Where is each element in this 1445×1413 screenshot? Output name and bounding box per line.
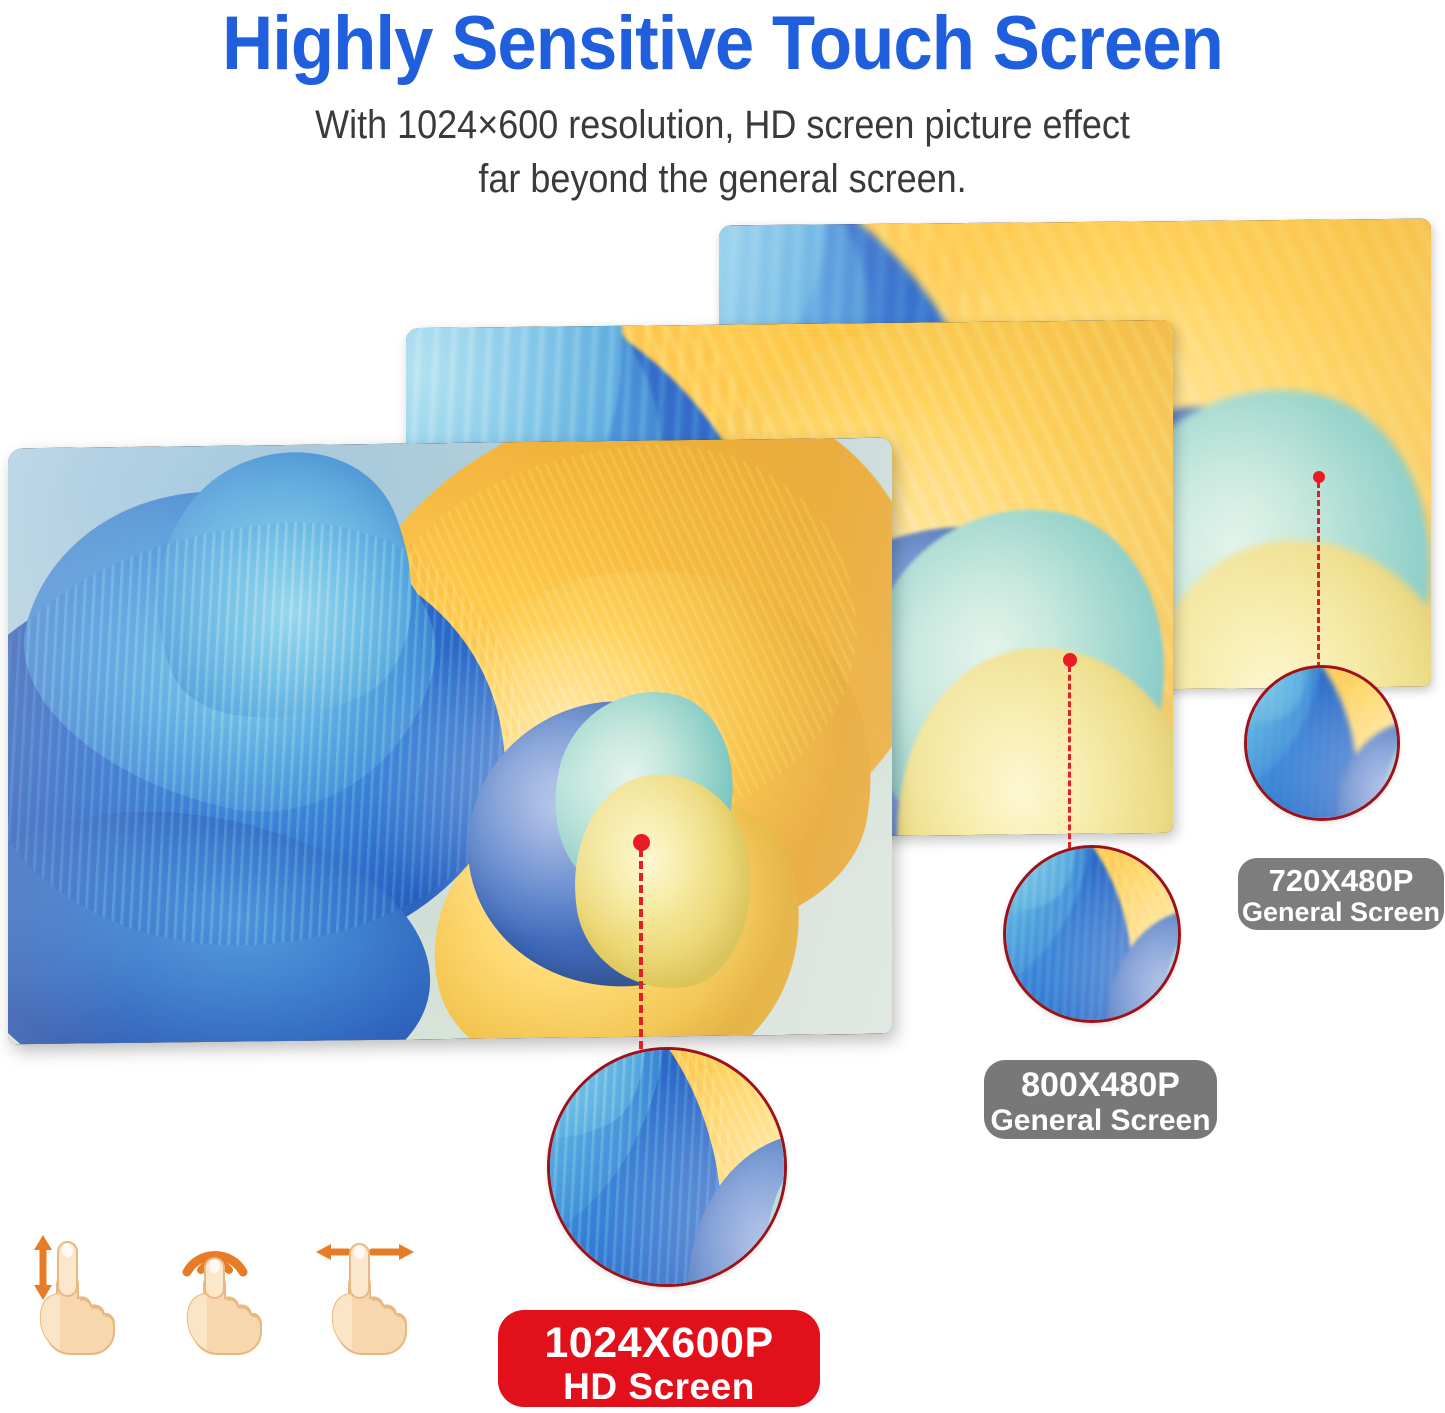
swipe-horizontal-gesture-icon (310, 1228, 422, 1358)
tap-gesture-icon (165, 1228, 277, 1358)
badge-kind-text: General Screen (1238, 898, 1444, 927)
callout-leader-line-800x480 (1068, 666, 1071, 848)
subtitle-line-1: With 1024×600 resolution, HD screen pict… (72, 98, 1373, 152)
callout-dot-800x480 (1063, 653, 1077, 667)
screen-glass (8, 438, 892, 1045)
page-subtitle: With 1024×600 resolution, HD screen pict… (72, 84, 1373, 207)
badge-kind-text: HD Screen (498, 1367, 820, 1407)
subtitle-line-2: far beyond the general screen. (72, 152, 1373, 206)
touch-gesture-icon-row (10, 1228, 430, 1358)
magnified-wallpaper-detail (1003, 845, 1181, 1023)
magnifier-1024x600 (547, 1047, 787, 1287)
page-title: Highly Sensitive Touch Screen (51, 0, 1395, 84)
callout-leader-line-1024x600 (639, 849, 643, 1049)
tablet-screen-1024x600 (8, 438, 892, 1045)
magnifier-800x480 (1003, 845, 1181, 1023)
badge-kind-text: General Screen (984, 1105, 1217, 1137)
callout-leader-line-720x480 (1317, 482, 1320, 668)
resolution-badge-800x480: 800X480P General Screen (984, 1060, 1217, 1139)
badge-resolution-text: 1024X600P (498, 1320, 820, 1366)
header: Highly Sensitive Touch Screen With 1024×… (0, 0, 1445, 207)
magnified-wallpaper-detail (547, 1047, 787, 1287)
swipe-vertical-gesture-icon (18, 1228, 130, 1358)
resolution-badge-1024x600: 1024X600P HD Screen (498, 1310, 820, 1407)
magnifier-720x480 (1244, 665, 1400, 821)
magnified-wallpaper-detail (1244, 665, 1400, 821)
badge-resolution-text: 720X480P (1238, 864, 1444, 897)
badge-resolution-text: 800X480P (984, 1067, 1217, 1104)
resolution-badge-720x480: 720X480P General Screen (1238, 858, 1444, 930)
flower-wallpaper (8, 438, 892, 1045)
